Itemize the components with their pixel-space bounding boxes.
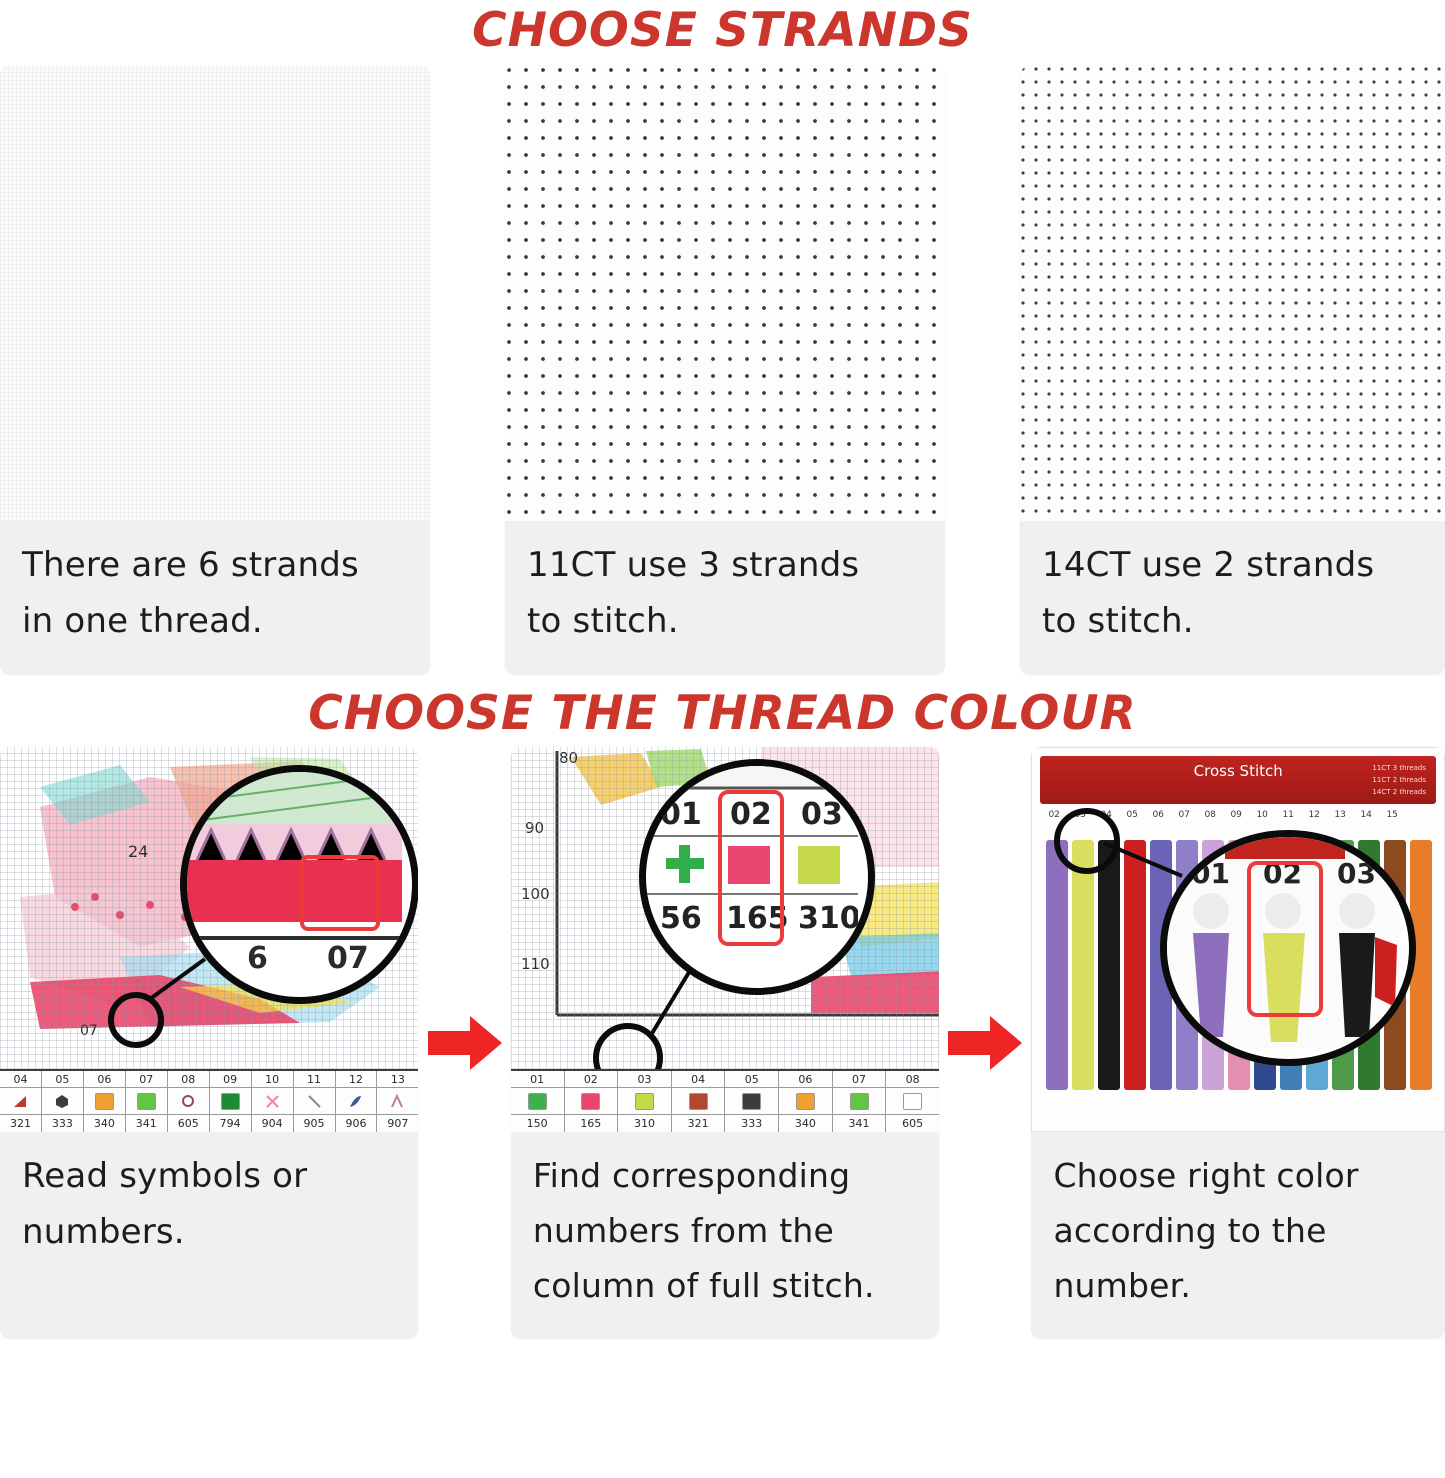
- caption-line-3: column of full stitch.: [533, 1258, 917, 1313]
- magnified-number-02: 02: [730, 797, 772, 832]
- checkbox-label-2: 11CT 2 threads: [1372, 776, 1426, 784]
- pattern-chart-artwork: 80 90 100 110 01 02 03: [511, 747, 939, 1132]
- strand-card-caption: 14CT use 2 strands to stitch.: [1020, 521, 1445, 675]
- right-arrow-icon: [428, 1014, 502, 1072]
- legend-symbol: [252, 1088, 293, 1115]
- legend-dmc-code: 904: [262, 1115, 283, 1132]
- legend-symbol: [0, 1088, 41, 1115]
- pattern-chart-artwork: 24 07: [0, 747, 418, 1132]
- legend-symbol: [126, 1088, 167, 1115]
- colour-card-caption: Find corresponding numbers from the colu…: [511, 1132, 939, 1339]
- hanger-number: 05: [1126, 810, 1137, 820]
- legend-cell[interactable]: 03310: [618, 1071, 672, 1132]
- legend-dmc-code: 340: [94, 1115, 115, 1132]
- legend-symbol: [377, 1088, 418, 1115]
- legend-dmc-code: 165: [580, 1115, 601, 1132]
- legend-dmc-code: 333: [52, 1115, 73, 1132]
- magnified-floss-hanks: 01 02 03: [1167, 837, 1399, 1049]
- magnified-pattern-detail: 6 07: [187, 772, 402, 987]
- magnifier-lens: 01 02 03: [1160, 830, 1416, 1066]
- caption-line-2: according to the: [1053, 1203, 1423, 1258]
- caption-line-2: to stitch.: [527, 593, 923, 649]
- arrow-1-wrap: [418, 747, 510, 1339]
- caption-line-2: numbers.: [22, 1204, 396, 1260]
- legend-cell[interactable]: 04321: [0, 1071, 42, 1132]
- magnified-code-310: 310: [798, 901, 858, 936]
- magnifier-target-circle: [1054, 808, 1120, 874]
- legend-symbol: [511, 1088, 564, 1115]
- caption-line-1: Choose right color: [1053, 1148, 1423, 1203]
- colour-cards-row: 24 07: [0, 743, 1445, 1339]
- legend-symbol: [84, 1088, 125, 1115]
- legend-cell[interactable]: 06340: [779, 1071, 833, 1132]
- magnified-number-6: 6: [247, 941, 268, 976]
- legend-number: 02: [565, 1071, 618, 1088]
- legend-number: 05: [42, 1071, 83, 1088]
- legend-symbol: [886, 1088, 939, 1115]
- caption-line-1: 14CT use 2 strands: [1042, 537, 1423, 593]
- legend-number: 04: [0, 1071, 41, 1088]
- legend-symbol: [336, 1088, 377, 1115]
- magnified-symbol-pink-square: [728, 846, 770, 884]
- aida-cloth-11ct-texture: [505, 66, 945, 521]
- hanger-number: 11: [1282, 810, 1293, 820]
- magnified-colour-key: 01 02 03 56 165 310: [646, 766, 858, 978]
- legend-number: 08: [886, 1071, 939, 1088]
- legend-number: 06: [779, 1071, 832, 1088]
- strand-card-14ct: 14CT use 2 strands to stitch.: [1020, 66, 1445, 675]
- legend-dmc-code: 321: [688, 1115, 709, 1132]
- magnifier-lens: 6 07: [180, 765, 418, 1004]
- hanger-number: 02: [1048, 810, 1059, 820]
- photo-11ct-three-strands: [505, 66, 945, 521]
- caption-line-1: 11CT use 3 strands: [527, 537, 923, 593]
- legend-symbol: [168, 1088, 209, 1115]
- legend-number: 08: [168, 1071, 209, 1088]
- colour-key-table: 0115002165033100432105333063400734108605: [511, 1069, 939, 1132]
- legend-number: 04: [672, 1071, 725, 1088]
- legend-dmc-code: 333: [741, 1115, 762, 1132]
- legend-dmc-code: 150: [527, 1115, 548, 1132]
- strand-card-6-strands: There are 6 strands in one thread.: [0, 66, 430, 675]
- caption-line-1: Find corresponding: [533, 1148, 917, 1203]
- caption-line-2: to stitch.: [1042, 593, 1423, 649]
- caption-line-3: number.: [1053, 1258, 1423, 1313]
- legend-symbol: [210, 1088, 251, 1115]
- legend-dmc-code: 321: [10, 1115, 31, 1132]
- hanger-number: 13: [1334, 810, 1345, 820]
- legend-dmc-code: 605: [902, 1115, 923, 1132]
- plain-fabric-texture: [0, 66, 430, 521]
- legend-cell[interactable]: 05333: [725, 1071, 779, 1132]
- legend-symbol: [672, 1088, 725, 1115]
- photo-six-strands: [0, 66, 430, 521]
- legend-symbol: [42, 1088, 83, 1115]
- floss-hank[interactable]: [1072, 840, 1094, 1090]
- caption-line-1: There are 6 strands: [22, 537, 408, 593]
- legend-number: 06: [84, 1071, 125, 1088]
- strand-card-11ct: 11CT use 3 strands to stitch.: [505, 66, 945, 675]
- legend-number: 11: [294, 1071, 335, 1088]
- legend-dmc-code: 341: [849, 1115, 870, 1132]
- legend-cell[interactable]: 08605: [168, 1071, 210, 1132]
- legend-dmc-code: 905: [304, 1115, 325, 1132]
- legend-number: 07: [126, 1071, 167, 1088]
- legend-cell[interactable]: 10904: [252, 1071, 294, 1132]
- colour-card-caption: Read symbols or numbers.: [0, 1132, 418, 1286]
- colour-card-read-symbols: 24 07: [0, 747, 418, 1339]
- legend-cell[interactable]: 11905: [294, 1071, 336, 1132]
- aida-cloth-14ct-texture: [1020, 66, 1445, 521]
- hanger-number: 07: [1178, 810, 1189, 820]
- right-arrow-icon: [948, 1014, 1022, 1072]
- caption-line-1: Read symbols or: [22, 1148, 396, 1204]
- caption-line-2: in one thread.: [22, 593, 408, 649]
- checkbox-label-3: 14CT 2 threads: [1372, 788, 1426, 796]
- legend-cell[interactable]: 06340: [84, 1071, 126, 1132]
- legend-cell[interactable]: 02165: [565, 1071, 619, 1132]
- legend-number: 12: [336, 1071, 377, 1088]
- colour-card-caption: Choose right color according to the numb…: [1031, 1132, 1445, 1339]
- floss-hank[interactable]: [1098, 840, 1120, 1090]
- strand-cards-row: There are 6 strands in one thread.: [0, 60, 1445, 675]
- legend-cell[interactable]: 13907: [377, 1071, 418, 1132]
- magnified-number-03: 03: [1337, 857, 1376, 890]
- colour-card-choose-colour: Cross Stitch 11CT 3 threads 11CT 2 threa…: [1031, 747, 1445, 1339]
- magnified-number-01: 01: [660, 797, 702, 832]
- strand-card-caption: There are 6 strands in one thread.: [0, 521, 430, 675]
- hanger-number: 12: [1308, 810, 1319, 820]
- magnified-symbol-yellow-green-square: [798, 846, 840, 884]
- legend-cell[interactable]: 07341: [833, 1071, 887, 1132]
- legend-symbol: [725, 1088, 778, 1115]
- legend-symbol: [565, 1088, 618, 1115]
- legend-number: 13: [377, 1071, 418, 1088]
- legend-dmc-code: 310: [634, 1115, 655, 1132]
- thread-organizer-card: Cross Stitch 11CT 3 threads 11CT 2 threa…: [1031, 747, 1445, 1132]
- magnified-number-07: 07: [327, 941, 369, 976]
- legend-dmc-code: 340: [795, 1115, 816, 1132]
- strand-card-caption: 11CT use 3 strands to stitch.: [505, 521, 945, 675]
- hanger-number: 15: [1386, 810, 1397, 820]
- legend-number: 03: [618, 1071, 671, 1088]
- checkbox-label-1: 11CT 3 threads: [1372, 764, 1426, 772]
- hanger-number: 06: [1152, 810, 1163, 820]
- magnified-symbol-green-plus: [666, 845, 704, 883]
- legend-dmc-code: 907: [387, 1115, 408, 1132]
- legend-number: 07: [833, 1071, 886, 1088]
- legend-symbol: [833, 1088, 886, 1115]
- legend-number: 05: [725, 1071, 778, 1088]
- arrow-2-wrap: [939, 747, 1031, 1339]
- legend-dmc-code: 341: [136, 1115, 157, 1132]
- legend-number: 01: [511, 1071, 564, 1088]
- hanger-number: 09: [1230, 810, 1241, 820]
- legend-dmc-code: 794: [220, 1115, 241, 1132]
- colour-card-find-numbers: 80 90 100 110 01 02 03: [511, 747, 939, 1339]
- hanger-number: 14: [1360, 810, 1371, 820]
- magnified-number-03: 03: [801, 797, 843, 832]
- magnified-code-56: 56: [660, 901, 702, 936]
- magnifier-target-circle: [108, 992, 164, 1048]
- hanger-number: 08: [1204, 810, 1215, 820]
- photo-14ct-two-strands: [1020, 66, 1445, 521]
- magnified-code-165: 165: [726, 901, 789, 936]
- caption-line-2: numbers from the: [533, 1203, 917, 1258]
- magnified-hank-03: [1339, 933, 1375, 1037]
- legend-cell[interactable]: 12906: [336, 1071, 378, 1132]
- legend-cell[interactable]: 09794: [210, 1071, 252, 1132]
- legend-dmc-code: 906: [345, 1115, 366, 1132]
- legend-cell[interactable]: 04321: [672, 1071, 726, 1132]
- floss-hank[interactable]: [1124, 840, 1146, 1090]
- legend-number: 09: [210, 1071, 251, 1088]
- hanger-number: 10: [1256, 810, 1267, 820]
- legend-dmc-code: 605: [178, 1115, 199, 1132]
- legend-number: 10: [252, 1071, 293, 1088]
- photo-thread-organizer: Cross Stitch 11CT 3 threads 11CT 2 threa…: [1031, 747, 1445, 1132]
- page-title-choose-thread-colour: CHOOSE THE THREAD COLOUR: [0, 675, 1445, 743]
- symbol-legend-table: 0432105333063400734108605097941090411905…: [0, 1069, 418, 1132]
- legend-cell[interactable]: 01150: [511, 1071, 565, 1132]
- floss-hank[interactable]: [1046, 840, 1068, 1090]
- legend-cell[interactable]: 05333: [42, 1071, 84, 1132]
- legend-cell[interactable]: 08605: [886, 1071, 939, 1132]
- legend-symbol: [779, 1088, 832, 1115]
- legend-symbol: [618, 1088, 671, 1115]
- photo-pattern-chart-numbers: 80 90 100 110 01 02 03: [511, 747, 939, 1132]
- legend-cell[interactable]: 07341: [126, 1071, 168, 1132]
- legend-symbol: [294, 1088, 335, 1115]
- photo-pattern-chart-symbols: 24 07: [0, 747, 418, 1132]
- page-title-choose-strands: CHOOSE STRANDS: [0, 0, 1445, 60]
- magnifier-lens: 01 02 03 56 165 310: [639, 759, 875, 995]
